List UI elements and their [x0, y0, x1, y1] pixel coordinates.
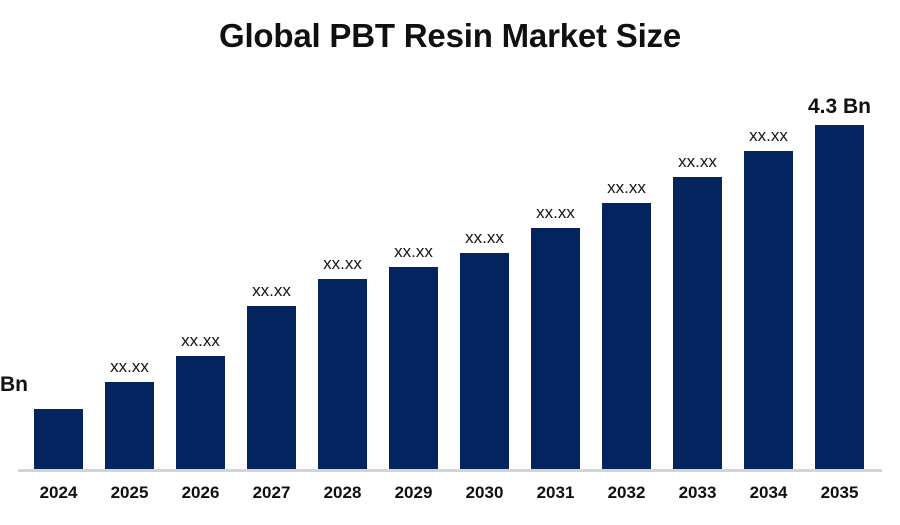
bar-value-label-2034: xx.xx — [714, 126, 824, 146]
chart-container: Global PBT Resin Market Size 2.5 Bnxx.xx… — [0, 0, 900, 525]
bar-value-label-2033: xx.xx — [643, 152, 753, 172]
bar-2035[interactable] — [815, 125, 864, 469]
bar-value-label-2035: 4.3 Bn — [785, 95, 895, 119]
bar-value-label-2032: xx.xx — [572, 178, 682, 198]
bar-2034[interactable] — [744, 151, 793, 469]
bar-2029[interactable] — [389, 267, 438, 469]
bar-2028[interactable] — [318, 279, 367, 469]
bar-2032[interactable] — [602, 203, 651, 469]
bar-2024[interactable] — [34, 409, 83, 469]
bar-value-label-2026: xx.xx — [146, 331, 256, 351]
bar-2031[interactable] — [531, 228, 580, 469]
plot-area: 2.5 Bnxx.xxxx.xxxx.xxxx.xxxx.xxxx.xxxx.x… — [0, 0, 900, 525]
x-label-2035: 2035 — [795, 482, 885, 504]
x-axis-line — [18, 469, 882, 472]
bar-value-label-2025: xx.xx — [75, 357, 185, 377]
bar-2025[interactable] — [105, 382, 154, 469]
bar-value-label-2027: xx.xx — [217, 281, 327, 301]
bar-2033[interactable] — [673, 177, 722, 469]
bar-2030[interactable] — [460, 253, 509, 469]
bar-value-label-2024: 2.5 Bn — [0, 373, 28, 397]
bar-value-label-2031: xx.xx — [501, 203, 611, 223]
bar-value-label-2030: xx.xx — [430, 228, 540, 248]
